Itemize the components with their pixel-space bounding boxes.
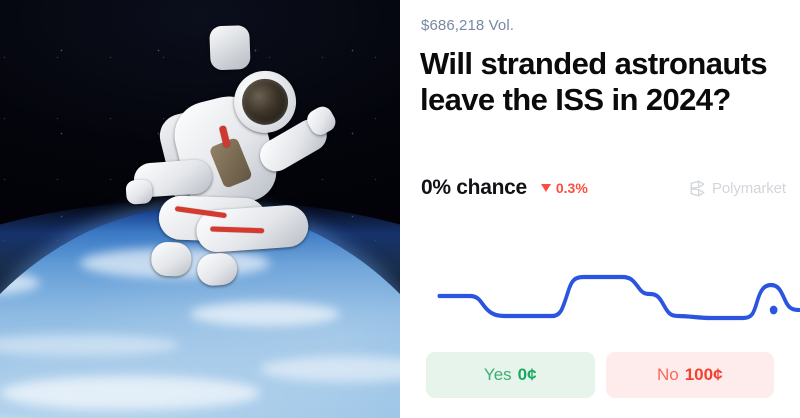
trade-actions: Yes 0¢ No 100¢ (426, 352, 774, 398)
chance-delta: 0.3% (541, 180, 588, 196)
no-price: 100¢ (685, 365, 723, 385)
no-label: No (657, 365, 679, 385)
chance-delta-value: 0.3% (556, 180, 588, 196)
market-image (0, 0, 400, 418)
market-title: Will stranded astronauts leave the ISS i… (420, 46, 780, 118)
yes-label: Yes (484, 365, 512, 385)
chance-value: 0% chance (421, 176, 527, 200)
price-history-chart (400, 248, 800, 344)
buy-no-button[interactable]: No 100¢ (606, 352, 775, 398)
market-panel: $686,218 Vol. Will stranded astronauts l… (400, 0, 800, 418)
volume-label: $686,218 Vol. (421, 17, 514, 34)
astronaut-right-boot (196, 252, 238, 287)
brand-watermark: Polymarket (689, 180, 786, 197)
yes-price: 0¢ (518, 365, 537, 385)
astronaut-left-boot (151, 241, 192, 276)
astronaut-mmu-arm (209, 25, 251, 70)
astronaut-left-glove (125, 179, 153, 205)
price-line (439, 277, 799, 318)
caret-down-icon (541, 184, 551, 192)
price-endpoint-marker (770, 306, 778, 315)
brand-name: Polymarket (712, 180, 786, 197)
market-card: $686,218 Vol. Will stranded astronauts l… (0, 0, 800, 418)
polymarket-logo-icon (689, 180, 706, 197)
buy-yes-button[interactable]: Yes 0¢ (426, 352, 595, 398)
